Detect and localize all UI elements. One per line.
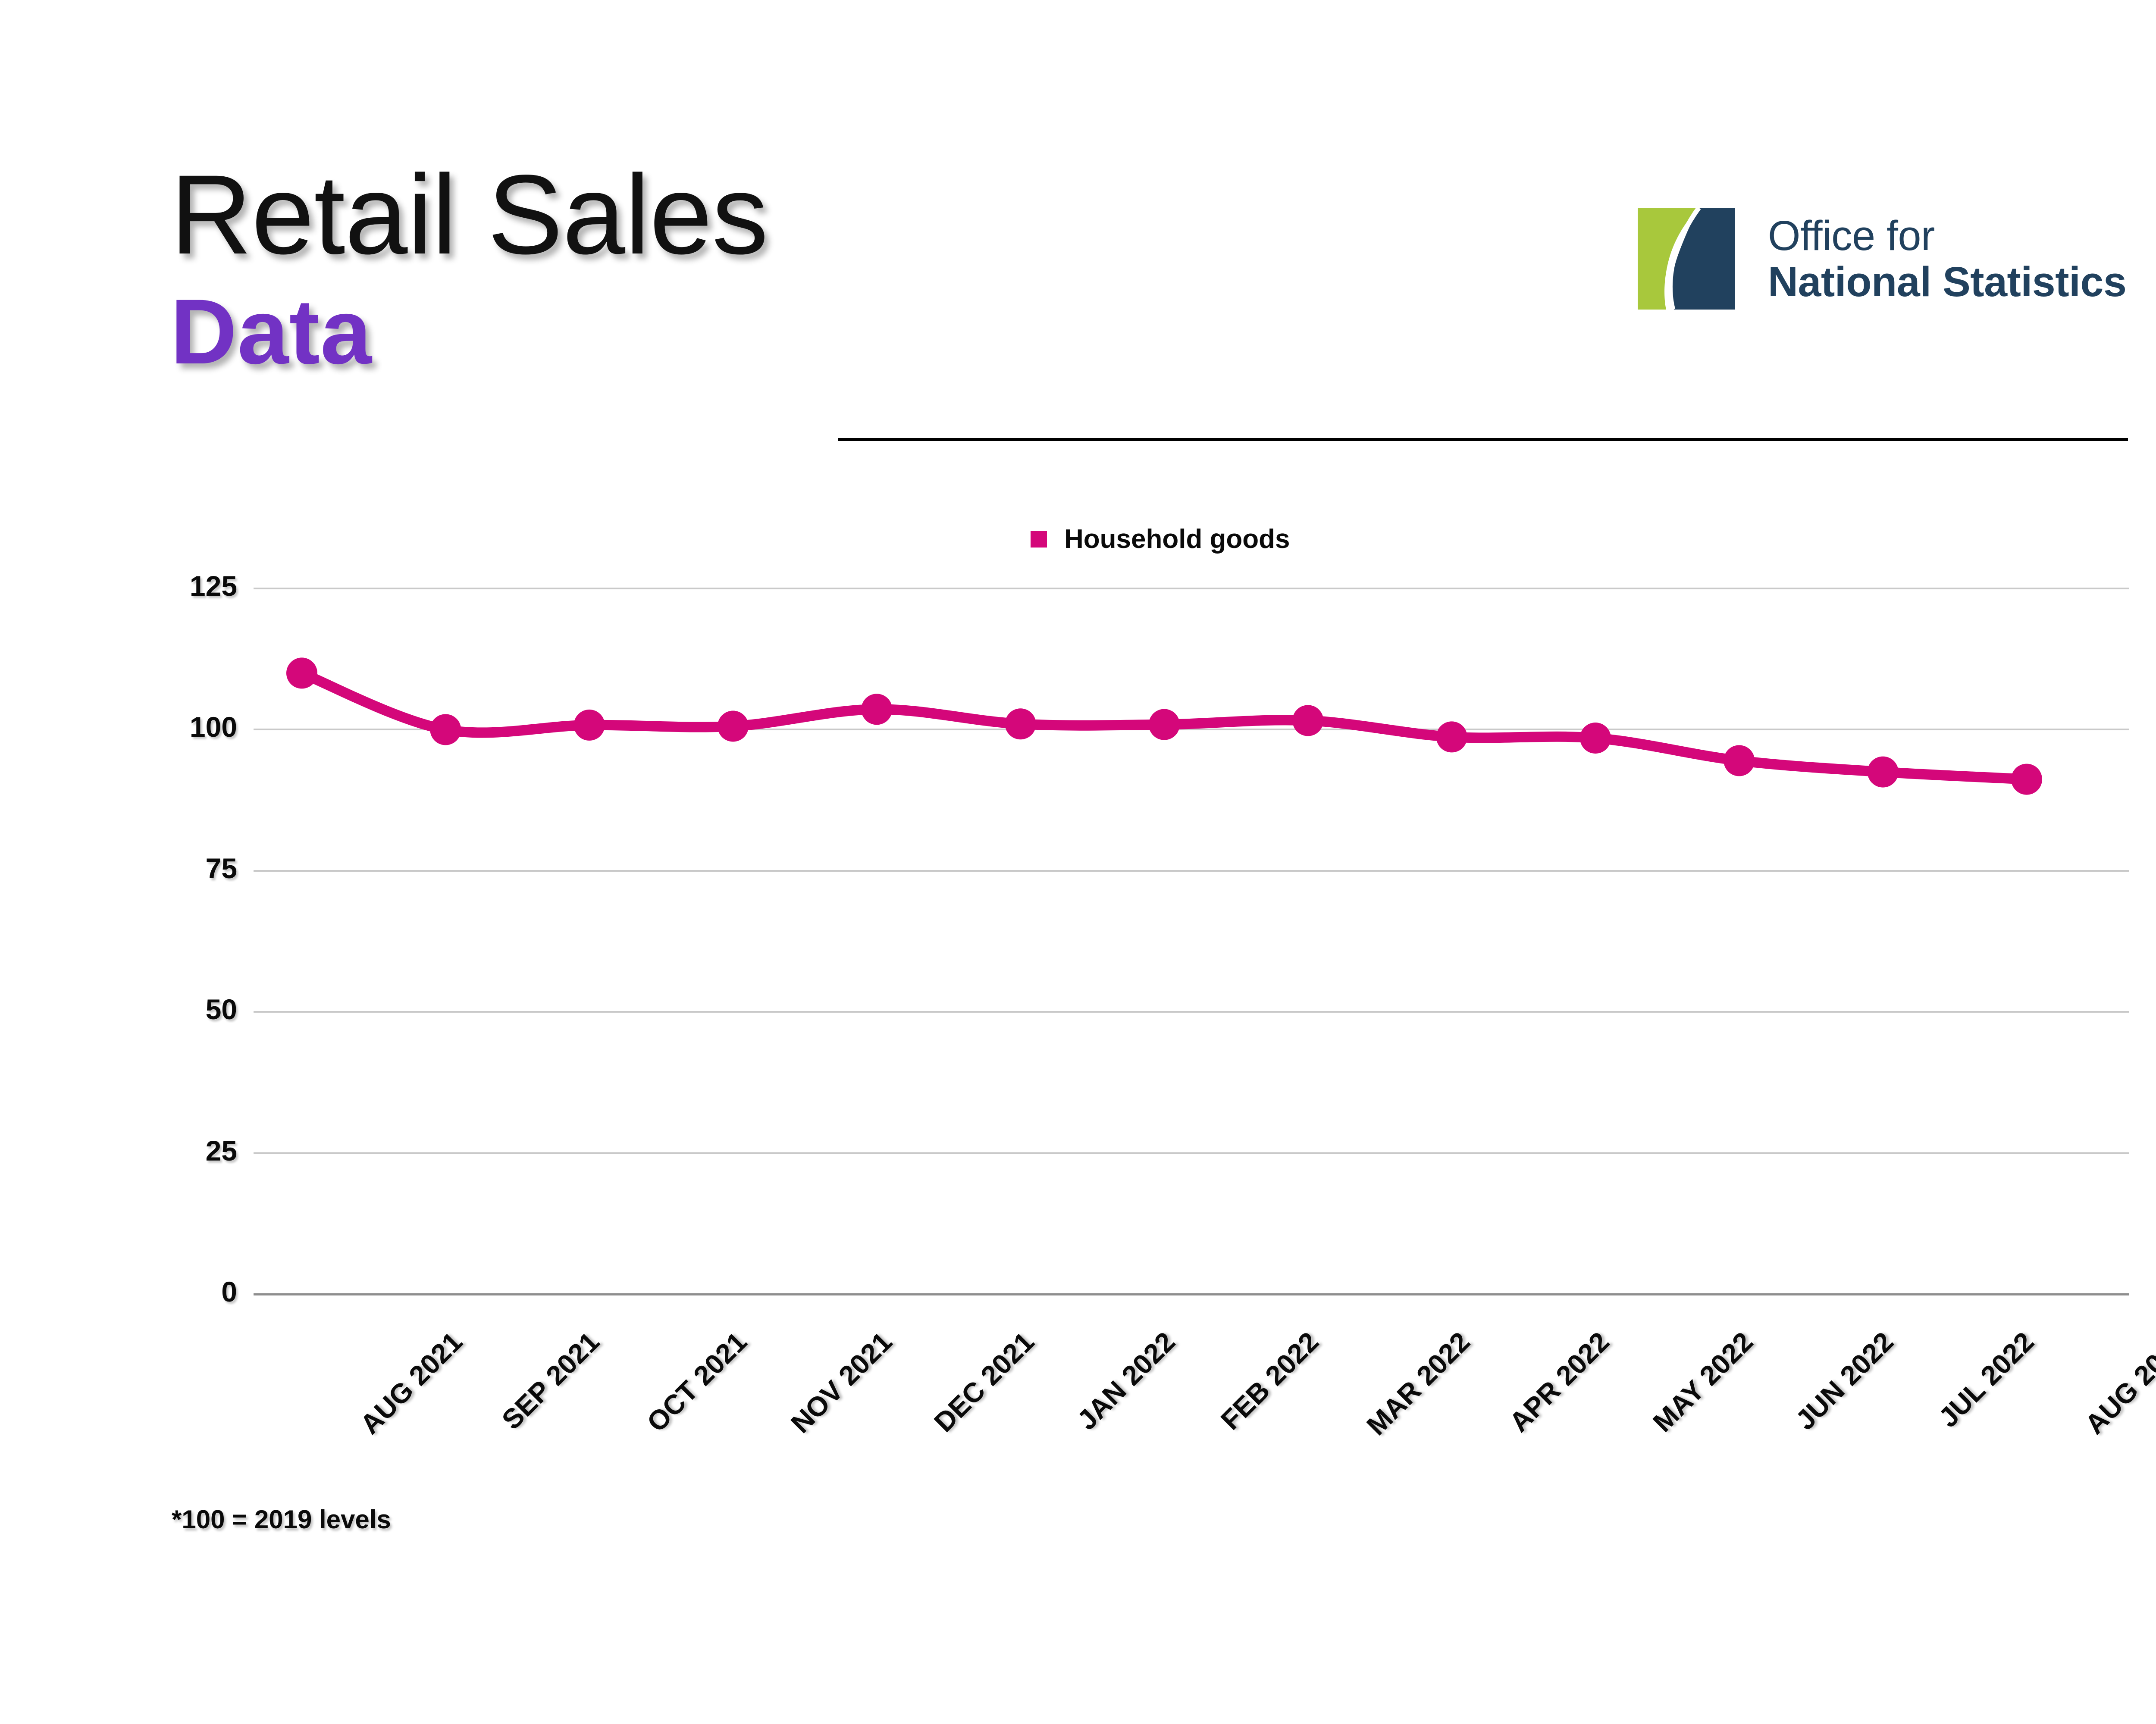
data-point-mar-2022[interactable]	[1292, 705, 1323, 736]
data-point-dec-2021[interactable]	[861, 694, 892, 725]
x-tick-label-aug-2021: AUG 2021	[354, 1326, 469, 1440]
x-tick-label-oct-2021: OCT 2021	[640, 1326, 753, 1438]
x-tick-label-mar-2022: MAR 2022	[1360, 1326, 1476, 1442]
x-tick-label-dec-2021: DEC 2021	[928, 1326, 1040, 1438]
y-tick-label-75: 75	[112, 852, 237, 885]
y-tick-label-25: 25	[112, 1134, 237, 1167]
gridline-125	[254, 588, 2129, 589]
data-point-aug-2021[interactable]	[286, 657, 317, 688]
gridline-25	[254, 1152, 2129, 1154]
y-tick-label-125: 125	[112, 569, 237, 602]
data-point-feb-2022[interactable]	[1149, 709, 1180, 740]
data-point-jun-2022[interactable]	[1724, 745, 1755, 776]
x-tick-label-jul-2022: JUL 2022	[1932, 1326, 2040, 1433]
x-tick-label-sep-2021: SEP 2021	[495, 1326, 605, 1436]
chart-series-layer	[0, 0, 2156, 1724]
x-tick-label-jun-2022: JUN 2022	[1789, 1326, 1900, 1436]
gridline-50	[254, 1011, 2129, 1013]
x-tick-label-aug-2022: AUG 2022	[2079, 1326, 2156, 1440]
data-point-apr-2022[interactable]	[1436, 721, 1467, 752]
data-point-oct-2021[interactable]	[574, 710, 605, 741]
gridline-100	[254, 729, 2129, 730]
data-point-may-2022[interactable]	[1580, 723, 1611, 754]
x-tick-label-may-2022: MAY 2022	[1647, 1326, 1759, 1438]
y-tick-label-0: 0	[112, 1275, 237, 1308]
x-tick-label-jan-2022: JAN 2022	[1071, 1326, 1181, 1436]
chart-footnote: *100 = 2019 levels	[172, 1505, 391, 1534]
data-point-nov-2021[interactable]	[718, 711, 749, 742]
line-chart: 1251007550250 AUG 2021SEP 2021OCT 2021NO…	[0, 0, 2156, 1724]
y-tick-label-50: 50	[112, 993, 237, 1026]
gridline-0	[254, 1293, 2129, 1295]
data-point-aug-2022[interactable]	[2011, 764, 2042, 795]
y-tick-label-100: 100	[112, 710, 237, 743]
data-point-jan-2022[interactable]	[1005, 708, 1036, 739]
x-tick-label-feb-2022: FEB 2022	[1214, 1326, 1325, 1436]
x-tick-label-nov-2021: NOV 2021	[785, 1326, 899, 1439]
series-line-household-goods	[302, 673, 2027, 779]
gridline-75	[254, 870, 2129, 872]
x-tick-label-apr-2022: APR 2022	[1503, 1326, 1615, 1438]
data-point-jul-2022[interactable]	[1868, 757, 1899, 788]
